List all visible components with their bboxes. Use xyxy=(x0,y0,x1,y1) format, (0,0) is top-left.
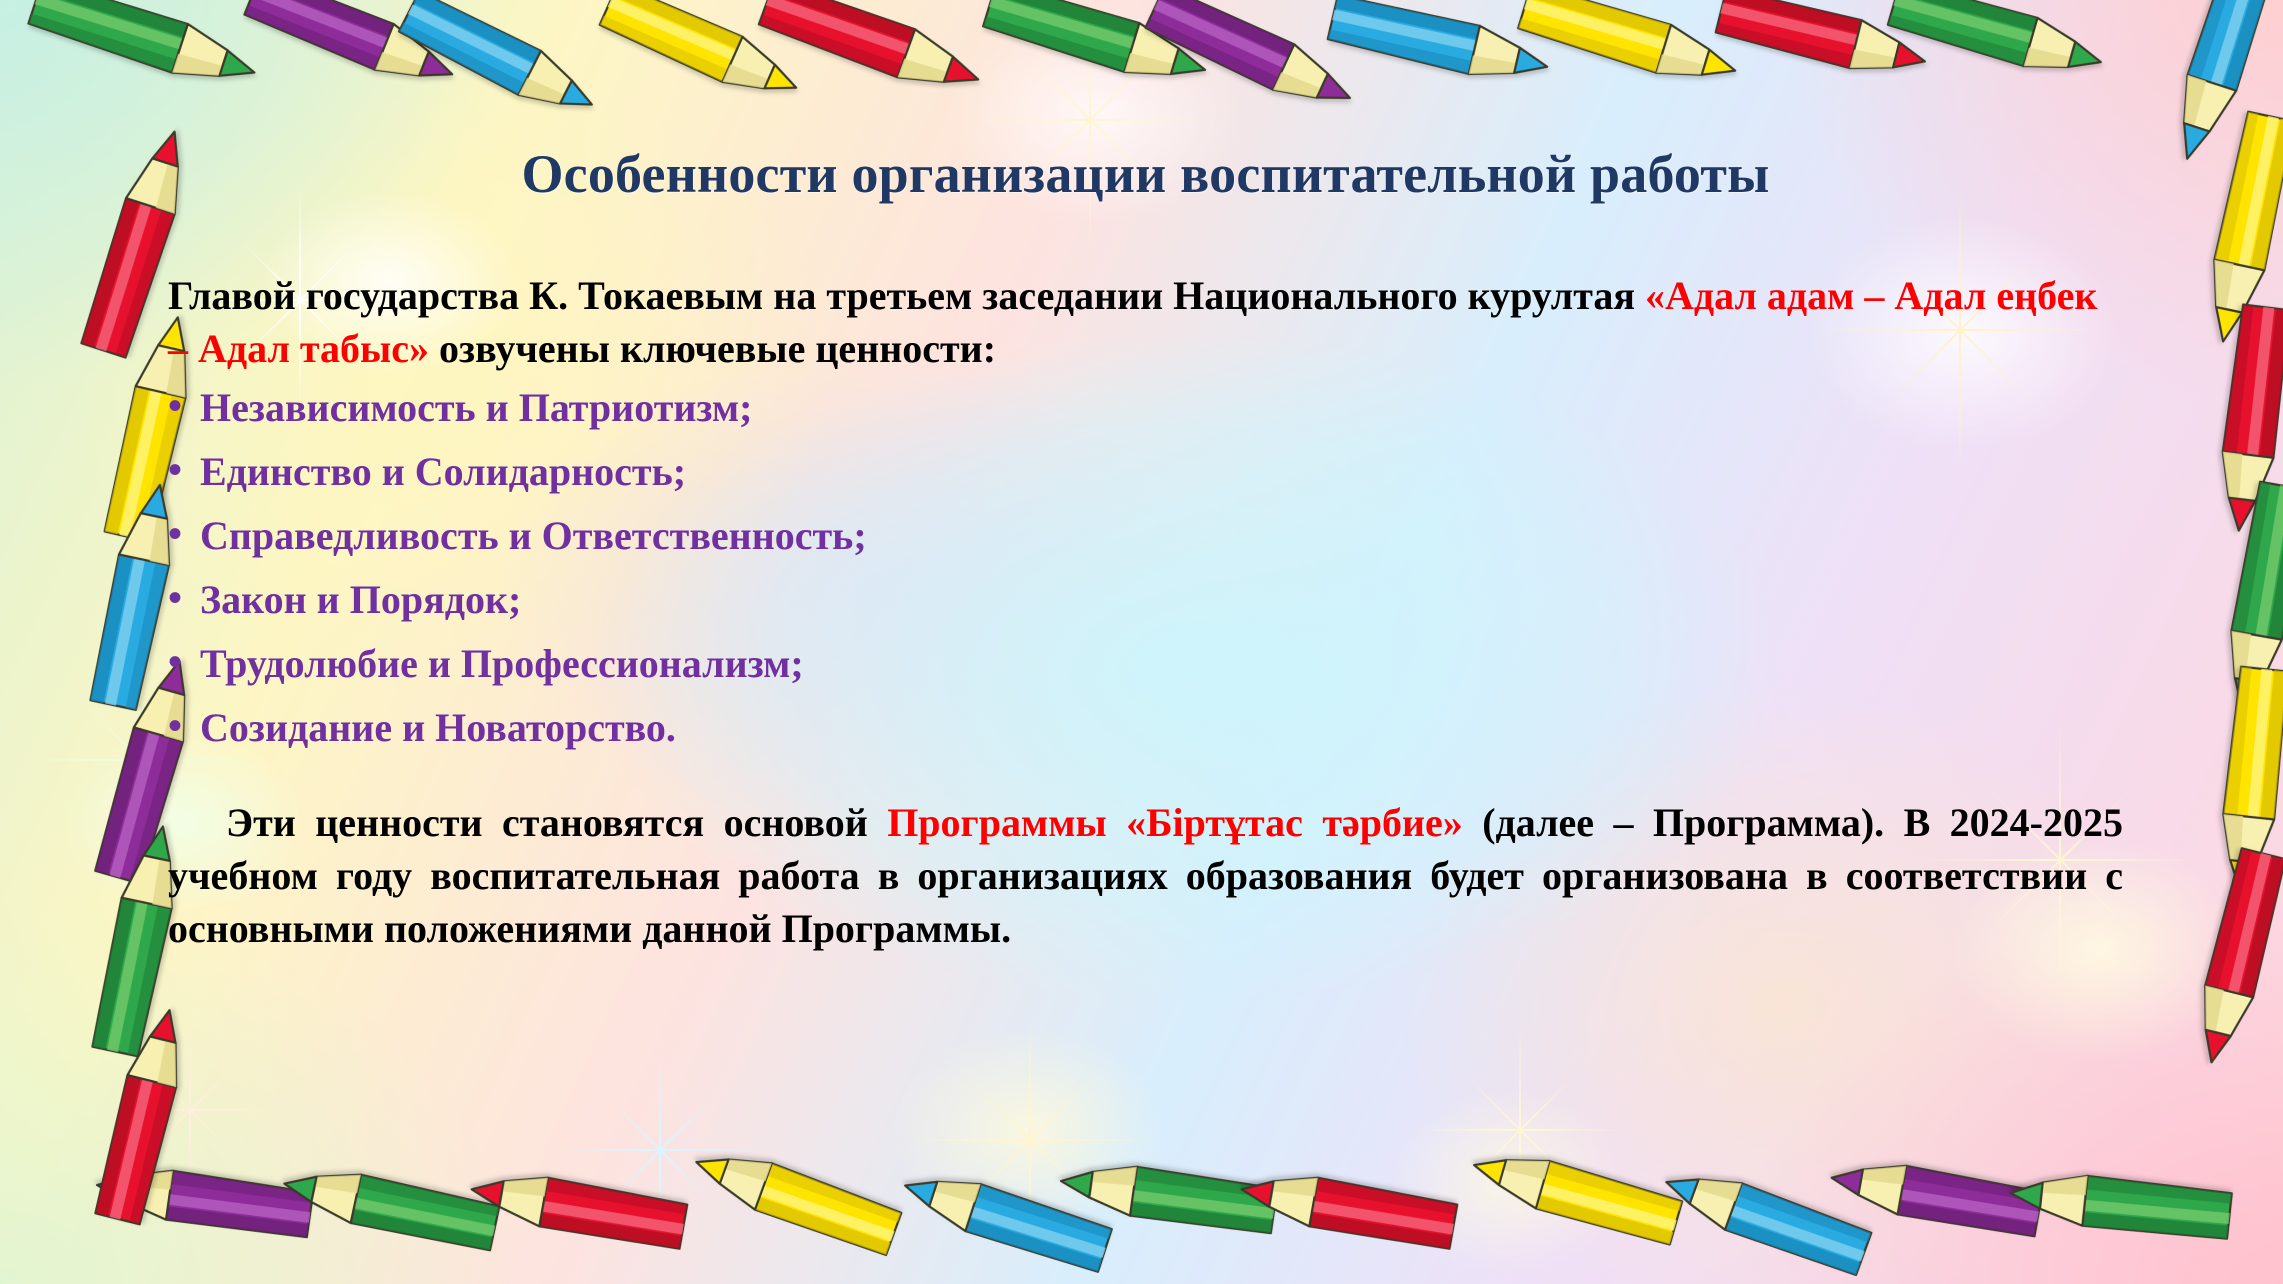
value-list-item: Независимость и Патриотизм; xyxy=(168,388,2123,428)
key-values-list: Независимость и Патриотизм;Единство и Со… xyxy=(168,388,2123,748)
pencil-icon xyxy=(1237,1162,1458,1254)
pencil-icon xyxy=(27,0,264,100)
slide-content: Особенности организации воспитательной р… xyxy=(168,108,2123,1128)
pencil-icon xyxy=(2008,1165,2233,1245)
value-list-item: Справедливость и Ответственность; xyxy=(168,516,2123,556)
intro-paragraph: Главой государства К. Токаевым на третье… xyxy=(168,270,2123,376)
final-text-part-1: Эти ценности становятся основой xyxy=(226,800,887,845)
value-list-item: Единство и Солидарность; xyxy=(168,452,2123,492)
pencil-icon xyxy=(2184,847,2283,1069)
intro-text-part-1: Главой государства К. Токаевым на третье… xyxy=(168,273,1645,318)
presentation-slide: Особенности организации воспитательной р… xyxy=(0,0,2283,1284)
value-list-item: Созидание и Новаторство. xyxy=(168,708,2123,748)
value-list-item: Закон и Порядок; xyxy=(168,580,2123,620)
value-list-item: Трудолюбие и Профессионализм; xyxy=(168,644,2123,684)
pencil-icon xyxy=(1466,1138,1683,1250)
final-highlight-program: Программы «Біртұтас тәрбие» xyxy=(887,800,1463,845)
pencil-icon xyxy=(687,1136,903,1260)
pencil-icon xyxy=(279,1156,501,1255)
intro-text-part-2: озвучены ключевые ценности: xyxy=(429,326,996,371)
final-paragraph: Эти ценности становятся основой Программ… xyxy=(168,796,2123,956)
page-title: Особенности организации воспитательной р… xyxy=(168,145,2123,204)
pencil-icon xyxy=(467,1162,688,1254)
pencil-icon xyxy=(1327,0,1554,94)
